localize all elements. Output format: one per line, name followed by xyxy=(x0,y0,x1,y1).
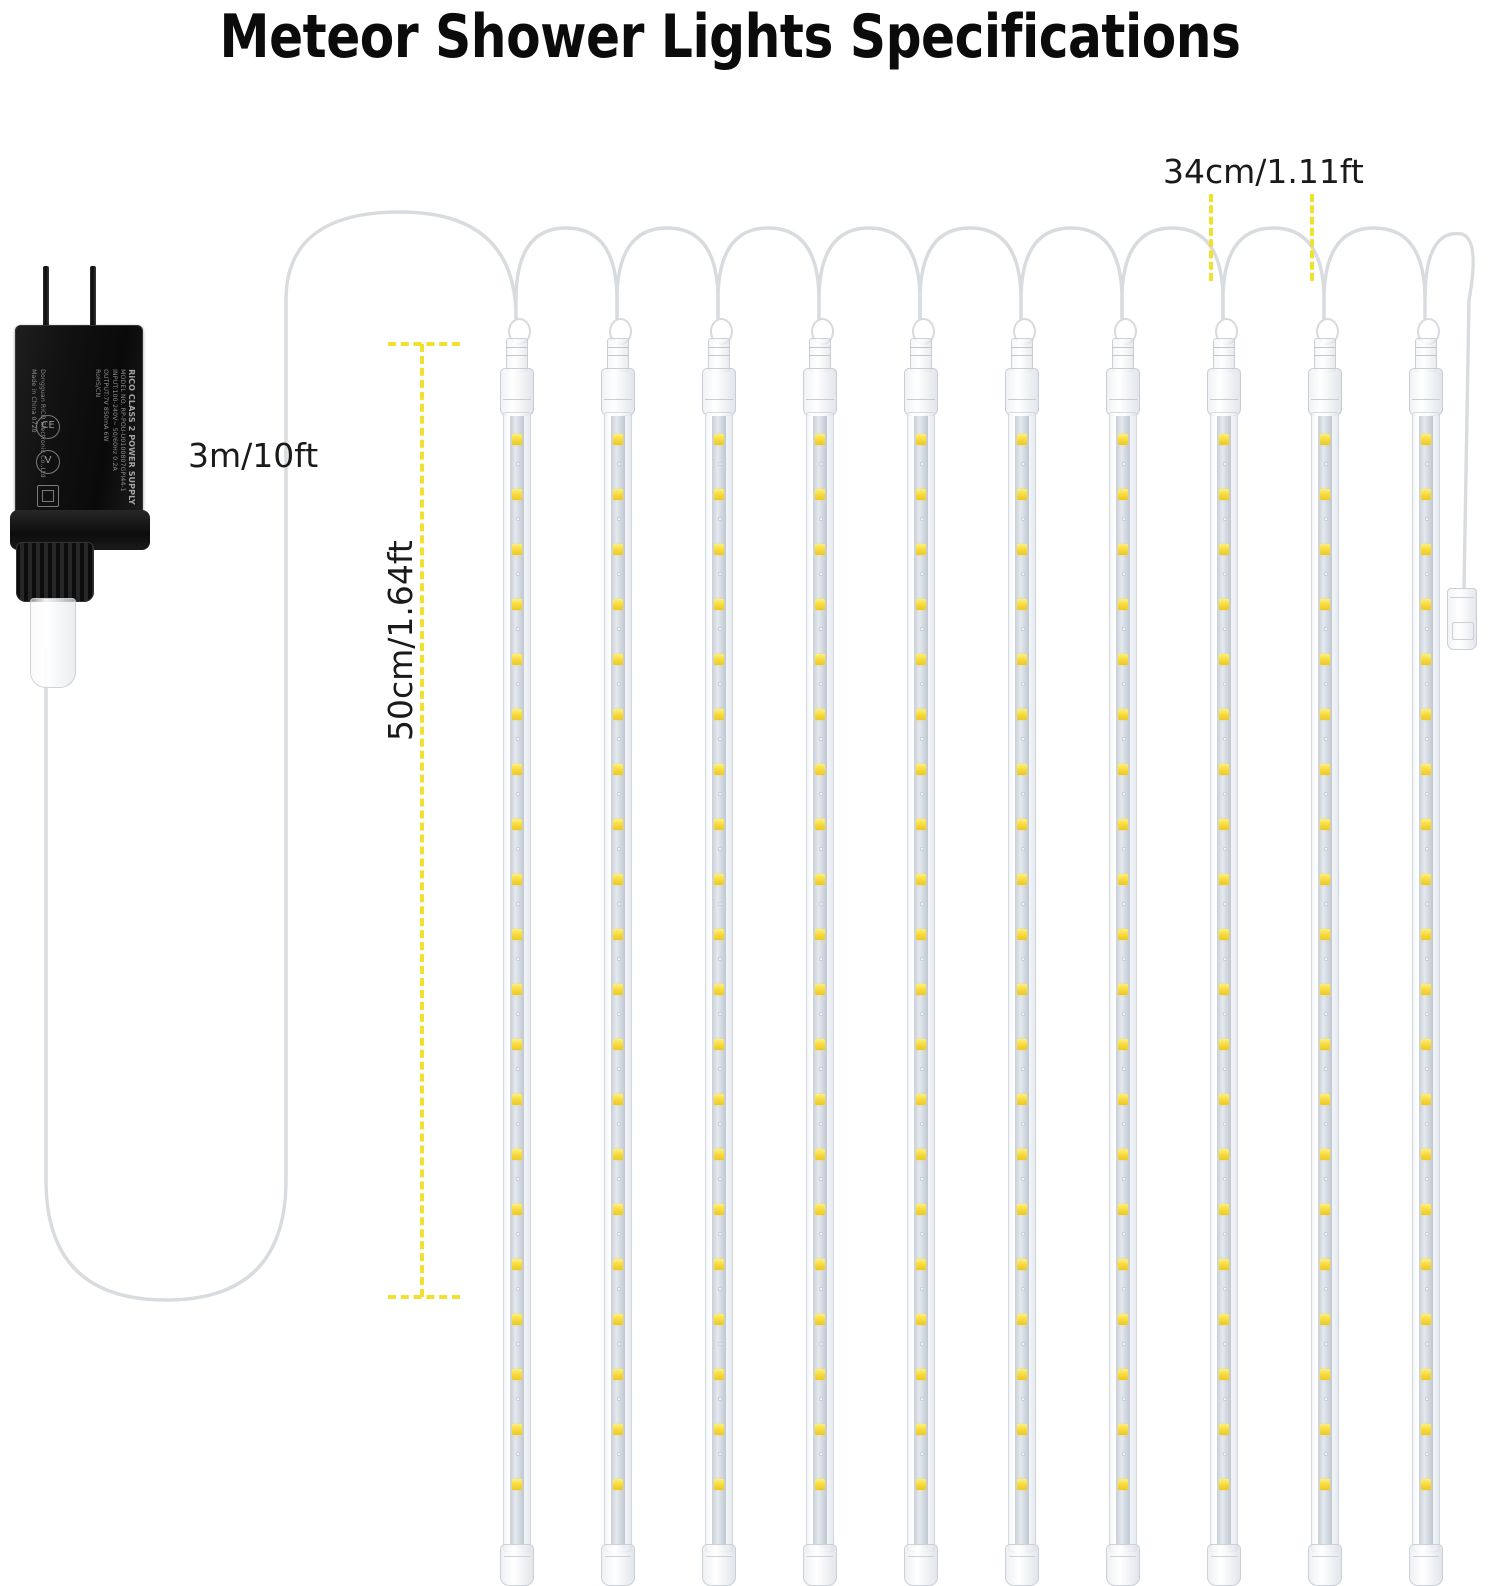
led-chip xyxy=(916,1479,926,1490)
led-chip xyxy=(815,599,825,610)
led-solder-dot xyxy=(718,517,722,521)
led-solder-dot xyxy=(1021,627,1025,631)
led-solder-dot xyxy=(920,737,924,741)
led-chip xyxy=(916,929,926,940)
tube-neck xyxy=(1112,338,1134,372)
led-solder-dot xyxy=(920,1067,924,1071)
led-solder-dot xyxy=(516,682,520,686)
led-solder-dot xyxy=(1122,792,1126,796)
led-solder-dot xyxy=(1223,1452,1227,1456)
led-chip xyxy=(1421,1204,1431,1215)
led-chip xyxy=(1219,874,1229,885)
led-chip xyxy=(1320,1039,1330,1050)
led-strip-pcb xyxy=(813,416,827,1548)
led-solder-dot xyxy=(617,957,621,961)
led-solder-dot xyxy=(1324,572,1328,576)
led-solder-dot xyxy=(1425,1122,1429,1126)
led-chip xyxy=(1017,654,1027,665)
led-solder-dot xyxy=(718,1452,722,1456)
tube-neck xyxy=(809,338,831,372)
led-chip xyxy=(916,544,926,555)
led-chip xyxy=(512,929,522,940)
led-chip xyxy=(613,984,623,995)
led-solder-dot xyxy=(1324,1122,1328,1126)
led-chip xyxy=(714,1204,724,1215)
led-solder-dot xyxy=(920,1452,924,1456)
led-solder-dot xyxy=(920,627,924,631)
led-solder-dot xyxy=(819,682,823,686)
led-chip xyxy=(1118,984,1128,995)
tube-arch-3 xyxy=(718,228,819,318)
led-chip xyxy=(714,434,724,445)
led-chip xyxy=(1421,1149,1431,1160)
led-solder-dot xyxy=(1324,902,1328,906)
led-chip xyxy=(714,1094,724,1105)
height-dimension-bottom-tick xyxy=(388,1295,460,1299)
adapter-cable-collar xyxy=(16,542,94,602)
led-solder-dot xyxy=(1021,1232,1025,1236)
led-chip xyxy=(613,654,623,665)
led-solder-dot xyxy=(1324,1232,1328,1236)
led-solder-dot xyxy=(617,847,621,851)
led-solder-dot xyxy=(516,1012,520,1016)
led-chip xyxy=(815,1094,825,1105)
plug-prong-right xyxy=(90,266,96,328)
tube-top-cap xyxy=(601,368,635,416)
led-chip xyxy=(815,1259,825,1270)
led-chip xyxy=(1118,1204,1128,1215)
adapter-label-line-3: OUTPUT:7V 850mA 6W xyxy=(101,369,110,518)
led-chip xyxy=(613,1259,623,1270)
led-chip xyxy=(512,1259,522,1270)
led-chip xyxy=(613,1094,623,1105)
led-chip xyxy=(1118,1259,1128,1270)
led-solder-dot xyxy=(516,847,520,851)
led-solder-dot xyxy=(1021,1342,1025,1346)
tube-bottom-cap xyxy=(1106,1544,1140,1586)
led-chip xyxy=(512,654,522,665)
led-chip xyxy=(613,1314,623,1325)
led-chip xyxy=(1421,654,1431,665)
led-solder-dot xyxy=(617,572,621,576)
led-solder-dot xyxy=(516,1177,520,1181)
led-solder-dot xyxy=(1425,572,1429,576)
led-chip xyxy=(815,544,825,555)
led-solder-dot xyxy=(1122,957,1126,961)
led-solder-dot xyxy=(617,462,621,466)
led-solder-dot xyxy=(1122,737,1126,741)
led-solder-dot xyxy=(1425,1452,1429,1456)
tube-arch-9 xyxy=(1324,228,1425,318)
led-chip xyxy=(916,764,926,775)
led-solder-dot xyxy=(1223,1397,1227,1401)
led-solder-dot xyxy=(1425,682,1429,686)
led-chip xyxy=(1118,544,1128,555)
led-solder-dot xyxy=(1425,902,1429,906)
led-chip xyxy=(1017,599,1027,610)
tube-bottom-cap xyxy=(1005,1544,1039,1586)
led-chip xyxy=(512,709,522,720)
led-chip xyxy=(1017,764,1027,775)
led-solder-dot xyxy=(617,1287,621,1291)
tube-top-cap xyxy=(702,368,736,416)
led-chip xyxy=(613,489,623,500)
led-chip xyxy=(1017,1039,1027,1050)
led-chip xyxy=(1421,489,1431,500)
led-chip xyxy=(1219,819,1229,830)
tube-neck xyxy=(708,338,730,372)
led-chip xyxy=(1219,654,1229,665)
led-chip xyxy=(1421,1479,1431,1490)
led-chip xyxy=(613,819,623,830)
led-chip xyxy=(1219,544,1229,555)
led-solder-dot xyxy=(1324,957,1328,961)
led-chip xyxy=(916,654,926,665)
led-chip xyxy=(613,1149,623,1160)
led-chip xyxy=(815,1314,825,1325)
tube-top-cap xyxy=(1409,368,1443,416)
led-solder-dot xyxy=(516,627,520,631)
led-chip xyxy=(613,709,623,720)
led-chip xyxy=(512,1204,522,1215)
led-chip xyxy=(1219,984,1229,995)
tube-arch-8 xyxy=(1223,228,1324,318)
led-chip xyxy=(714,1424,724,1435)
height-dimension-top-tick xyxy=(388,342,460,346)
led-solder-dot xyxy=(819,1397,823,1401)
led-solder-dot xyxy=(1324,1067,1328,1071)
tube-neck xyxy=(607,338,629,372)
led-solder-dot xyxy=(718,1342,722,1346)
led-chip xyxy=(1017,489,1027,500)
height-dimension-line xyxy=(420,344,424,1297)
tube-neck xyxy=(1011,338,1033,372)
led-chip xyxy=(1320,599,1330,610)
led-chip xyxy=(512,1314,522,1325)
led-solder-dot xyxy=(1021,1122,1025,1126)
led-solder-dot xyxy=(1223,1177,1227,1181)
led-chip xyxy=(916,1424,926,1435)
led-solder-dot xyxy=(1122,847,1126,851)
led-solder-dot xyxy=(920,847,924,851)
tube-top-cap xyxy=(500,368,534,416)
adapter-label-line-1: MODEL NO. RP-POU-U0100807GPI44-1 xyxy=(118,369,127,518)
led-chip xyxy=(512,434,522,445)
led-solder-dot xyxy=(1122,682,1126,686)
led-chip xyxy=(916,1259,926,1270)
led-solder-dot xyxy=(516,1067,520,1071)
led-solder-dot xyxy=(718,627,722,631)
tube-arch-2 xyxy=(617,228,718,318)
led-chip xyxy=(613,599,623,610)
led-chip xyxy=(714,709,724,720)
led-solder-dot xyxy=(1122,517,1126,521)
led-chip xyxy=(1421,599,1431,610)
led-solder-dot xyxy=(516,957,520,961)
led-chip xyxy=(1421,544,1431,555)
led-solder-dot xyxy=(1021,847,1025,851)
led-solder-dot xyxy=(718,737,722,741)
tube-bottom-cap xyxy=(803,1544,837,1586)
led-strip-pcb xyxy=(611,416,625,1548)
led-solder-dot xyxy=(819,902,823,906)
led-chip xyxy=(815,1369,825,1380)
led-chip xyxy=(1421,1314,1431,1325)
led-chip xyxy=(815,874,825,885)
led-chip xyxy=(512,1039,522,1050)
led-solder-dot xyxy=(920,1287,924,1291)
led-chip xyxy=(714,929,724,940)
led-chip xyxy=(1017,1479,1027,1490)
led-chip xyxy=(714,1149,724,1160)
led-chip xyxy=(1118,1149,1128,1160)
led-chip xyxy=(815,434,825,445)
led-chip xyxy=(512,819,522,830)
led-solder-dot xyxy=(516,572,520,576)
led-chip xyxy=(1421,1094,1431,1105)
led-chip xyxy=(714,1479,724,1490)
led-chip xyxy=(1017,874,1027,885)
led-solder-dot xyxy=(1021,1287,1025,1291)
led-solder-dot xyxy=(1425,737,1429,741)
led-chip xyxy=(1017,929,1027,940)
led-solder-dot xyxy=(1425,517,1429,521)
led-solder-dot xyxy=(819,1342,823,1346)
led-solder-dot xyxy=(718,902,722,906)
led-solder-dot xyxy=(1122,462,1126,466)
led-solder-dot xyxy=(718,1232,722,1236)
led-chip xyxy=(1118,489,1128,500)
led-chip xyxy=(1421,709,1431,720)
tube-neck xyxy=(1314,338,1336,372)
led-chip xyxy=(714,1259,724,1270)
led-solder-dot xyxy=(1425,957,1429,961)
adapter-label-line-2: INPUT:100-240V~ 50/60Hz 0.2A xyxy=(109,369,118,518)
led-chip xyxy=(916,1369,926,1380)
led-chip xyxy=(1219,1369,1229,1380)
adapter-male-connector xyxy=(30,598,76,688)
led-chip xyxy=(815,709,825,720)
led-chip xyxy=(1017,1259,1027,1270)
tube-arch-1 xyxy=(516,228,617,318)
led-solder-dot xyxy=(1425,1067,1429,1071)
led-solder-dot xyxy=(1425,1287,1429,1291)
led-chip xyxy=(613,1424,623,1435)
led-solder-dot xyxy=(920,1232,924,1236)
led-solder-dot xyxy=(920,957,924,961)
led-solder-dot xyxy=(1324,737,1328,741)
led-solder-dot xyxy=(1223,792,1227,796)
led-chip xyxy=(512,1149,522,1160)
led-chip xyxy=(1017,709,1027,720)
led-solder-dot xyxy=(819,1067,823,1071)
certification-marks: CE V xyxy=(29,415,67,518)
led-chip xyxy=(512,599,522,610)
tube-body xyxy=(705,412,733,1552)
led-chip xyxy=(1219,434,1229,445)
led-solder-dot xyxy=(1425,627,1429,631)
led-strip-pcb xyxy=(712,416,726,1548)
led-solder-dot xyxy=(718,1287,722,1291)
led-solder-dot xyxy=(1425,792,1429,796)
led-strip-pcb xyxy=(914,416,928,1548)
double-insulation-icon xyxy=(37,485,59,507)
led-chip xyxy=(613,1369,623,1380)
spacing-dimension-line-left xyxy=(1209,194,1213,281)
led-solder-dot xyxy=(1021,517,1025,521)
led-solder-dot xyxy=(1425,1012,1429,1016)
led-chip xyxy=(1320,1314,1330,1325)
led-strip-pcb xyxy=(1116,416,1130,1548)
led-chip xyxy=(1219,1479,1229,1490)
led-solder-dot xyxy=(1122,1232,1126,1236)
tube-body xyxy=(604,412,632,1552)
led-solder-dot xyxy=(1324,1012,1328,1016)
ce-mark-icon: CE xyxy=(36,415,60,439)
led-chip xyxy=(1320,764,1330,775)
led-chip xyxy=(1219,1039,1229,1050)
tube-body xyxy=(806,412,834,1552)
wire-harness xyxy=(0,0,1500,1319)
led-solder-dot xyxy=(819,847,823,851)
led-solder-dot xyxy=(1425,1232,1429,1236)
led-chip xyxy=(1320,1479,1330,1490)
led-chip xyxy=(512,1094,522,1105)
led-chip xyxy=(1118,1479,1128,1490)
led-solder-dot xyxy=(516,462,520,466)
led-chip xyxy=(916,489,926,500)
led-solder-dot xyxy=(1223,737,1227,741)
led-solder-dot xyxy=(1223,462,1227,466)
tube-bottom-cap xyxy=(1207,1544,1241,1586)
tube-arch-7 xyxy=(1122,228,1223,318)
led-solder-dot xyxy=(1223,1067,1227,1071)
led-chip xyxy=(512,1479,522,1490)
led-chip xyxy=(1320,709,1330,720)
led-chip xyxy=(1421,434,1431,445)
led-solder-dot xyxy=(920,1122,924,1126)
led-chip xyxy=(1017,434,1027,445)
led-solder-dot xyxy=(1324,1342,1328,1346)
led-chip xyxy=(815,654,825,665)
led-solder-dot xyxy=(516,1452,520,1456)
led-solder-dot xyxy=(1021,1012,1025,1016)
led-chip xyxy=(1219,1204,1229,1215)
tube-top-cap xyxy=(1308,368,1342,416)
tube-body xyxy=(907,412,935,1552)
led-chip xyxy=(613,544,623,555)
led-solder-dot xyxy=(617,1397,621,1401)
led-solder-dot xyxy=(516,517,520,521)
led-solder-dot xyxy=(617,1342,621,1346)
led-solder-dot xyxy=(920,572,924,576)
led-solder-dot xyxy=(617,737,621,741)
led-solder-dot xyxy=(1324,682,1328,686)
led-chip xyxy=(1320,874,1330,885)
led-chip xyxy=(1320,929,1330,940)
led-chip xyxy=(916,1094,926,1105)
led-solder-dot xyxy=(617,1452,621,1456)
led-solder-dot xyxy=(819,1287,823,1291)
tube-top-cap xyxy=(1106,368,1140,416)
led-chip xyxy=(1320,984,1330,995)
led-chip xyxy=(1017,1369,1027,1380)
led-solder-dot xyxy=(1021,572,1025,576)
led-solder-dot xyxy=(819,462,823,466)
led-solder-dot xyxy=(718,1067,722,1071)
led-solder-dot xyxy=(1021,1067,1025,1071)
led-solder-dot xyxy=(718,1122,722,1126)
adapter-label-line-0: RiCO CLASS 2 POWER SUPPLY xyxy=(126,369,135,518)
led-strip-pcb xyxy=(1419,416,1433,1548)
led-chip xyxy=(613,1039,623,1050)
led-chip xyxy=(916,709,926,720)
led-chip xyxy=(1017,819,1027,830)
led-chip xyxy=(714,654,724,665)
led-chip xyxy=(1017,1149,1027,1160)
led-solder-dot xyxy=(1122,1287,1126,1291)
led-solder-dot xyxy=(920,1012,924,1016)
tube-bottom-cap xyxy=(500,1544,534,1586)
led-solder-dot xyxy=(1122,1177,1126,1181)
led-solder-dot xyxy=(819,957,823,961)
led-chip xyxy=(1118,1424,1128,1435)
fcc-mark-icon: V xyxy=(36,450,60,474)
led-solder-dot xyxy=(1223,957,1227,961)
led-chip xyxy=(1017,984,1027,995)
plug-prong-left xyxy=(43,266,49,328)
tube-neck xyxy=(1213,338,1235,372)
led-solder-dot xyxy=(1425,462,1429,466)
led-chip xyxy=(1017,1204,1027,1215)
led-solder-dot xyxy=(1425,847,1429,851)
lead-wire-length-label: 3m/10ft xyxy=(188,436,318,475)
led-solder-dot xyxy=(617,1012,621,1016)
led-solder-dot xyxy=(718,462,722,466)
led-solder-dot xyxy=(1425,1177,1429,1181)
led-solder-dot xyxy=(1425,1342,1429,1346)
led-solder-dot xyxy=(1122,1012,1126,1016)
led-chip xyxy=(1320,1369,1330,1380)
led-chip xyxy=(815,1149,825,1160)
tube-length-label: 50cm/1.64ft xyxy=(381,540,420,741)
tube-neck xyxy=(910,338,932,372)
led-chip xyxy=(1219,489,1229,500)
led-solder-dot xyxy=(718,572,722,576)
led-chip xyxy=(714,984,724,995)
led-solder-dot xyxy=(920,792,924,796)
led-solder-dot xyxy=(819,1232,823,1236)
led-solder-dot xyxy=(819,1122,823,1126)
led-chip xyxy=(714,544,724,555)
led-chip xyxy=(815,1039,825,1050)
led-chip xyxy=(512,1369,522,1380)
led-chip xyxy=(1421,1424,1431,1435)
led-solder-dot xyxy=(718,1397,722,1401)
led-solder-dot xyxy=(1223,1012,1227,1016)
led-chip xyxy=(1421,764,1431,775)
led-solder-dot xyxy=(1021,902,1025,906)
led-chip xyxy=(1320,1424,1330,1435)
led-chip xyxy=(916,599,926,610)
led-chip xyxy=(1017,1094,1027,1105)
led-chip xyxy=(512,544,522,555)
led-solder-dot xyxy=(1223,1122,1227,1126)
led-solder-dot xyxy=(1223,1232,1227,1236)
led-solder-dot xyxy=(516,737,520,741)
led-chip xyxy=(512,874,522,885)
led-chip xyxy=(815,819,825,830)
